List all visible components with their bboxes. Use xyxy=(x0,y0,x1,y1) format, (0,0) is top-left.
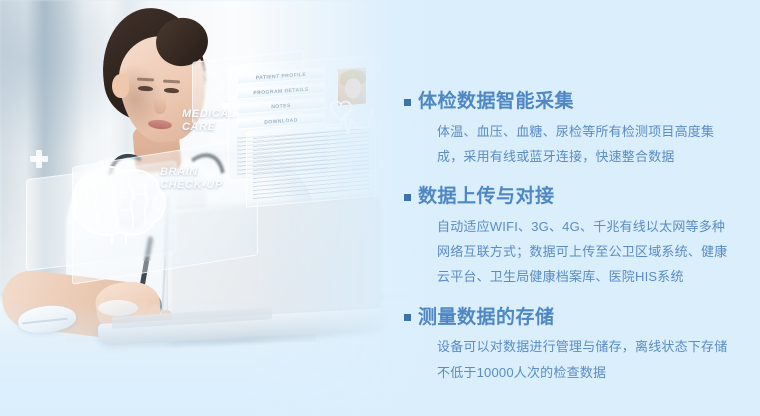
feature-heading: 体检数据智能采集 xyxy=(418,88,574,117)
medical-plus-icon-small xyxy=(30,150,48,168)
menu-item-program-details[interactable]: PROGRAM DETAILS xyxy=(237,83,325,100)
feature-heading: 测量数据的存储 xyxy=(418,304,555,333)
feature-description: 设备可以对数据进行管理与储存，离线状态下存储不低于10000人次的检查数据 xyxy=(437,334,737,385)
menu-item-notes[interactable]: NOTES xyxy=(237,98,325,115)
document-text-lines xyxy=(253,128,369,200)
bullet-square-icon xyxy=(404,99,411,106)
bullet-square-icon xyxy=(404,314,411,321)
feature-heading-row: 测量数据的存储 xyxy=(404,304,744,333)
avatar-face xyxy=(345,78,361,99)
feature-item: 数据上传与对接 自动适应WIFI、3G、4G、千兆有线以太网等多种网络互联方式；… xyxy=(404,183,744,290)
feature-description: 自动适应WIFI、3G、4G、千兆有线以太网等多种网络互联方式；数据可上传至公卫… xyxy=(437,214,737,290)
feature-list: 体检数据智能采集 体温、血压、血糖、尿检等所有检测项目高度集成，采用有线或蓝牙连… xyxy=(404,88,744,385)
feature-description: 体温、血压、血糖、尿检等所有检测项目高度集成，采用有线或蓝牙连接，快速整合数据 xyxy=(437,119,737,170)
feature-heading-row: 体检数据智能采集 xyxy=(404,88,744,117)
secondary-mouse xyxy=(98,300,138,316)
feature-item: 测量数据的存储 设备可以对数据进行管理与储存，离线状态下存储不低于10000人次… xyxy=(404,304,744,385)
feature-item: 体检数据智能采集 体温、血压、血糖、尿检等所有检测项目高度集成，采用有线或蓝牙连… xyxy=(404,88,744,169)
menu-item-patient-profile[interactable]: PATIENT PROFILE xyxy=(237,68,325,85)
hero-photo: MEDICAL CARE BRAIN CHECK-UP PATIENT PRO xyxy=(0,0,430,416)
doctor-nose xyxy=(154,96,166,114)
feature-heading: 数据上传与对接 xyxy=(418,183,555,212)
product-feature-banner: MEDICAL CARE BRAIN CHECK-UP PATIENT PRO xyxy=(0,0,760,416)
ecg-waveform-icon xyxy=(326,104,398,138)
doctor-ear xyxy=(112,74,129,98)
holo-label-brain-checkup: BRAIN CHECK-UP xyxy=(160,166,223,192)
feature-heading-row: 数据上传与对接 xyxy=(404,183,744,212)
bullet-square-icon xyxy=(404,194,411,201)
brain-icon xyxy=(62,158,174,250)
